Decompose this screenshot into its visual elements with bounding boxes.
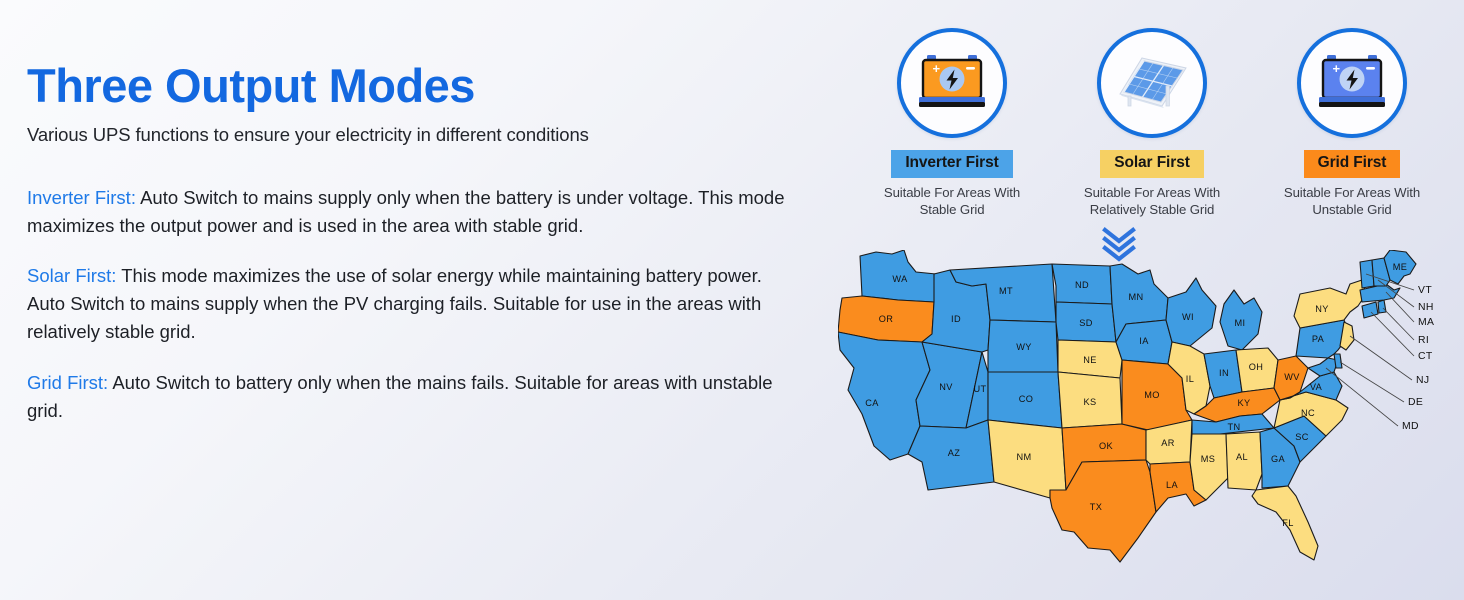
- map-label-MO: MO: [1144, 390, 1160, 400]
- map-label-UT: UT: [973, 384, 986, 394]
- mode-icon-circle: [1097, 28, 1207, 138]
- svg-text:+: +: [933, 61, 941, 76]
- map-callout-MD: MD: [1402, 421, 1419, 432]
- map-label-KY: KY: [1237, 398, 1250, 408]
- us-map-svg: WA OR CA NV ID MT WY UT AZ CO NM ND SD N…: [838, 250, 1438, 595]
- map-label-TX: TX: [1090, 502, 1103, 512]
- map-label-MT: MT: [999, 286, 1013, 296]
- state-NY[interactable]: [1294, 280, 1366, 328]
- map-label-IL: IL: [1186, 374, 1194, 384]
- paragraph-inverter-first: Inverter First: Auto Switch to mains sup…: [27, 184, 787, 240]
- map-label-LA: LA: [1166, 480, 1179, 490]
- map-callout-RI: RI: [1418, 335, 1429, 346]
- map-label-OR: OR: [879, 314, 894, 324]
- paragraph-body: This mode maximizes the use of solar ene…: [27, 265, 762, 342]
- map-label-OK: OK: [1099, 441, 1114, 451]
- map-label-AR: AR: [1161, 438, 1175, 448]
- map-label-ND: ND: [1075, 280, 1089, 290]
- svg-text:+: +: [1333, 61, 1341, 76]
- map-label-KS: KS: [1083, 397, 1096, 407]
- map-label-CA: CA: [865, 398, 879, 408]
- mode-icon-circle: +: [897, 28, 1007, 138]
- map-label-GA: GA: [1271, 454, 1286, 464]
- map-label-FL: FL: [1282, 518, 1294, 528]
- mode-subtitle: Suitable For Areas With Unstable Grid: [1272, 184, 1432, 219]
- paragraph-body: Auto Switch to battery only when the mai…: [27, 372, 773, 421]
- map-label-NC: NC: [1301, 408, 1315, 418]
- state-RI[interactable]: [1378, 300, 1386, 313]
- map-label-ME: ME: [1393, 262, 1408, 272]
- map-label-OH: OH: [1249, 362, 1264, 372]
- mode-card-grid-first[interactable]: + Grid First Suitable For Areas With Uns…: [1272, 28, 1432, 219]
- map-label-WI: WI: [1182, 312, 1194, 322]
- paragraph-grid-first: Grid First: Auto Switch to battery only …: [27, 369, 787, 425]
- state-MS[interactable]: [1190, 434, 1228, 500]
- map-label-TN: TN: [1227, 422, 1240, 432]
- map-callout-NJ: NJ: [1416, 375, 1430, 386]
- map-label-MI: MI: [1234, 318, 1245, 328]
- map-callout-NH: NH: [1418, 302, 1434, 313]
- state-DE[interactable]: [1334, 354, 1342, 368]
- page-title: Three Output Modes: [27, 62, 817, 109]
- mode-subtitle: Suitable For Areas With Relatively Stabl…: [1072, 184, 1232, 219]
- map-label-NM: NM: [1016, 452, 1031, 462]
- map-label-MS: MS: [1201, 454, 1216, 464]
- battery-blue-icon: +: [1313, 51, 1391, 115]
- map-label-SC: SC: [1295, 432, 1309, 442]
- map-label-NE: NE: [1083, 355, 1097, 365]
- mode-icon-circle: +: [1297, 28, 1407, 138]
- paragraph-solar-first: Solar First: This mode maximizes the use…: [27, 262, 787, 346]
- battery-orange-icon: +: [913, 51, 991, 115]
- page-subtitle: Various UPS functions to ensure your ele…: [27, 124, 817, 146]
- map-label-AL: AL: [1236, 452, 1248, 462]
- paragraph-lead: Inverter First:: [27, 187, 136, 208]
- map-label-VA: VA: [1310, 382, 1323, 392]
- paragraph-lead: Solar First:: [27, 265, 116, 286]
- paragraph-body: Auto Switch to mains supply only when th…: [27, 187, 785, 236]
- map-label-WV: WV: [1284, 372, 1300, 382]
- mode-badge-label: Grid First: [1304, 150, 1401, 178]
- paragraph-lead: Grid First:: [27, 372, 108, 393]
- infographic-root: Three Output Modes Various UPS functions…: [0, 0, 1464, 600]
- map-callout-DE: DE: [1408, 397, 1423, 408]
- solar-panel-icon: [1112, 50, 1192, 116]
- map-label-MN: MN: [1128, 292, 1143, 302]
- state-CT[interactable]: [1362, 302, 1378, 318]
- map-label-WA: WA: [892, 274, 908, 284]
- us-state-map: WA OR CA NV ID MT WY UT AZ CO NM ND SD N…: [838, 250, 1438, 595]
- map-label-NY: NY: [1315, 304, 1329, 314]
- mode-card-solar-first[interactable]: Solar First Suitable For Areas With Rela…: [1072, 28, 1232, 219]
- map-label-AZ: AZ: [948, 448, 961, 458]
- map-label-IN: IN: [1219, 368, 1229, 378]
- map-label-ID: ID: [951, 314, 961, 324]
- map-callout-VT: VT: [1418, 285, 1432, 296]
- map-label-SD: SD: [1079, 318, 1093, 328]
- text-column: Three Output Modes Various UPS functions…: [27, 62, 817, 425]
- mode-badge-label: Solar First: [1100, 150, 1204, 178]
- mode-card-inverter-first[interactable]: + Inverter First Suitable For Areas With…: [872, 28, 1032, 219]
- mode-badge-label: Inverter First: [891, 150, 1012, 178]
- map-callout-MA: MA: [1418, 317, 1434, 328]
- map-label-NV: NV: [939, 382, 953, 392]
- mode-cards: + Inverter First Suitable For Areas With…: [872, 28, 1432, 219]
- mode-subtitle: Suitable For Areas With Stable Grid: [872, 184, 1032, 219]
- map-label-PA: PA: [1312, 334, 1325, 344]
- map-label-IA: IA: [1139, 336, 1149, 346]
- map-label-WY: WY: [1016, 342, 1032, 352]
- map-label-CO: CO: [1019, 394, 1034, 404]
- map-callout-CT: CT: [1418, 351, 1433, 362]
- mode-descriptions: Inverter First: Auto Switch to mains sup…: [27, 184, 817, 425]
